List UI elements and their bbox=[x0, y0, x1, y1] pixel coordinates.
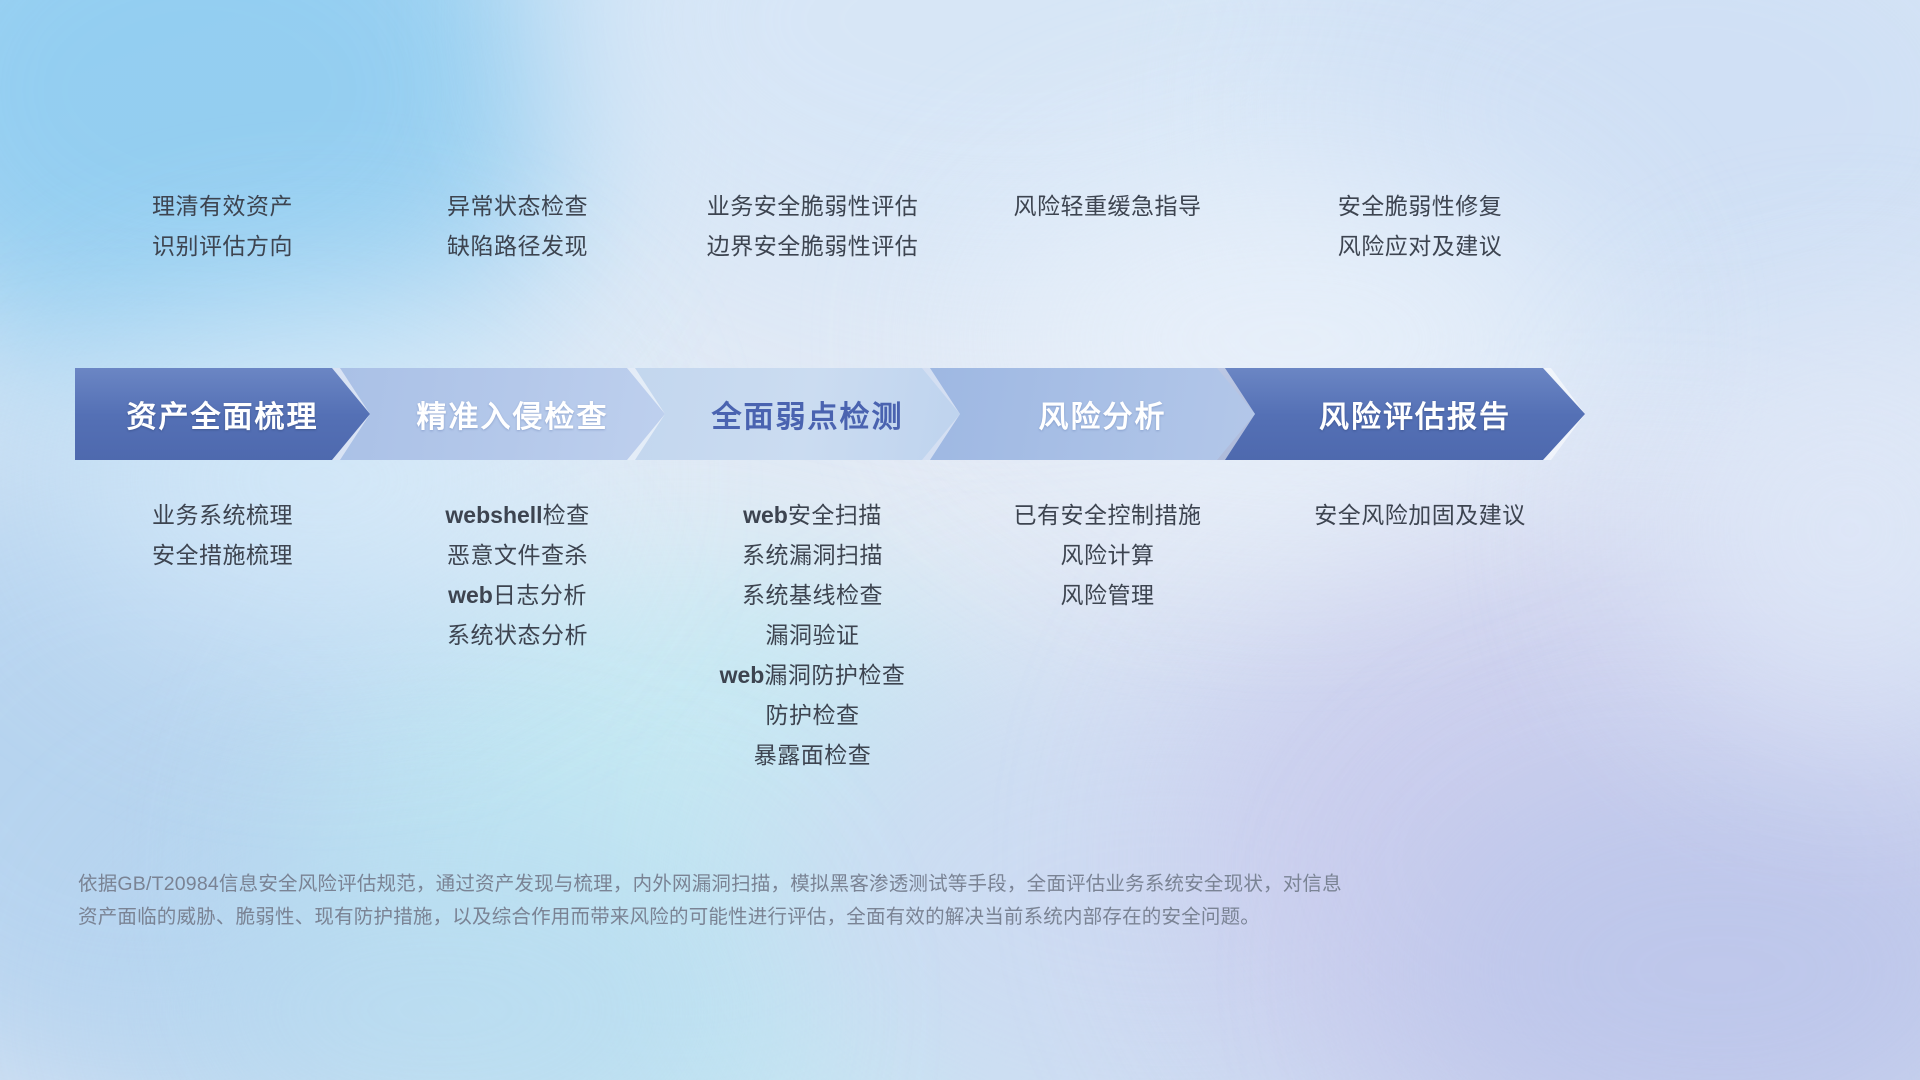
caption-line: 边界安全脆弱性评估 bbox=[665, 226, 960, 266]
list-line-rest: 安全扫描 bbox=[788, 502, 882, 528]
chevron-label: 精准入侵检查 bbox=[381, 392, 609, 436]
bottom-list-intrusion-check: webshell检查恶意文件查杀web日志分析系统状态分析 bbox=[370, 495, 665, 655]
list-line-rest: 漏洞防护检查 bbox=[764, 662, 905, 688]
list-line: 恶意文件查杀 bbox=[370, 535, 665, 575]
list-line-lead: web bbox=[448, 582, 493, 608]
bottom-list-asset-inventory: 业务系统梳理安全措施梳理 bbox=[75, 495, 370, 575]
list-line: 已有安全控制措施 bbox=[960, 495, 1255, 535]
chevron-stage-intrusion-check[interactable]: 精准入侵检查 bbox=[324, 368, 665, 460]
chevron-label: 风险评估报告 bbox=[1283, 392, 1511, 436]
list-line: web日志分析 bbox=[370, 575, 665, 615]
list-line: web漏洞防护检查 bbox=[665, 655, 960, 695]
top-caption-risk-analysis: 风险轻重缓急指导 bbox=[960, 186, 1255, 266]
list-line-lead: webshell bbox=[445, 502, 542, 528]
chevron-stage-risk-report[interactable]: 风险评估报告 bbox=[1209, 368, 1585, 460]
list-line: 风险管理 bbox=[960, 575, 1255, 615]
bottom-list-weakness-detection: web安全扫描系统漏洞扫描系统基线检查漏洞验证web漏洞防护检查防护检查暴露面检… bbox=[665, 495, 960, 775]
list-line: 系统状态分析 bbox=[370, 615, 665, 655]
caption-line: 安全脆弱性修复 bbox=[1255, 186, 1585, 226]
process-chevron-band: 资产全面梳理精准入侵检查全面弱点检测风险分析风险评估报告 bbox=[75, 368, 1845, 460]
list-line: 安全风险加固及建议 bbox=[1255, 495, 1585, 535]
bottom-lists-row: 业务系统梳理安全措施梳理 webshell检查恶意文件查杀web日志分析系统状态… bbox=[75, 495, 1845, 775]
chevron-label: 资产全面梳理 bbox=[127, 392, 319, 436]
list-line: 系统基线检查 bbox=[665, 575, 960, 615]
list-line: 系统漏洞扫描 bbox=[665, 535, 960, 575]
list-line: 暴露面检查 bbox=[665, 735, 960, 775]
caption-line: 缺陷路径发现 bbox=[370, 226, 665, 266]
bottom-list-risk-analysis: 已有安全控制措施风险计算风险管理 bbox=[960, 495, 1255, 615]
footer-description: 依据GB/T20984信息安全风险评估规范，通过资产发现与梳理，内外网漏洞扫描，… bbox=[78, 868, 1618, 934]
list-line: 防护检查 bbox=[665, 695, 960, 735]
chevron-stage-asset-inventory[interactable]: 资产全面梳理 bbox=[75, 368, 370, 460]
top-caption-intrusion-check: 异常状态检查缺陷路径发现 bbox=[370, 186, 665, 266]
list-line: 安全措施梳理 bbox=[75, 535, 370, 575]
diagram-stage: 理清有效资产识别评估方向 异常状态检查缺陷路径发现 业务安全脆弱性评估边界安全脆… bbox=[0, 0, 1920, 1080]
list-line-rest: 日志分析 bbox=[493, 582, 587, 608]
top-captions-row: 理清有效资产识别评估方向 异常状态检查缺陷路径发现 业务安全脆弱性评估边界安全脆… bbox=[75, 186, 1845, 266]
list-line: 业务系统梳理 bbox=[75, 495, 370, 535]
caption-line: 风险轻重缓急指导 bbox=[960, 186, 1255, 226]
bottom-list-risk-report: 安全风险加固及建议 bbox=[1255, 495, 1585, 535]
list-line: 漏洞验证 bbox=[665, 615, 960, 655]
list-line: web安全扫描 bbox=[665, 495, 960, 535]
list-line-rest: 检查 bbox=[543, 502, 590, 528]
list-line: 风险计算 bbox=[960, 535, 1255, 575]
caption-line: 风险应对及建议 bbox=[1255, 226, 1585, 266]
caption-line: 异常状态检查 bbox=[370, 186, 665, 226]
top-caption-risk-report: 安全脆弱性修复风险应对及建议 bbox=[1255, 186, 1585, 266]
caption-line: 理清有效资产 bbox=[75, 186, 370, 226]
chevron-label: 风险分析 bbox=[1003, 392, 1167, 436]
list-line-lead: web bbox=[720, 662, 765, 688]
list-line-lead: web bbox=[743, 502, 788, 528]
chevron-label: 全面弱点检测 bbox=[676, 392, 904, 436]
chevron-stage-weakness-detection[interactable]: 全面弱点检测 bbox=[619, 368, 960, 460]
top-caption-asset-inventory: 理清有效资产识别评估方向 bbox=[75, 186, 370, 266]
list-line: webshell检查 bbox=[370, 495, 665, 535]
chevron-stage-risk-analysis[interactable]: 风险分析 bbox=[914, 368, 1255, 460]
footer-line-1: 依据GB/T20984信息安全风险评估规范，通过资产发现与梳理，内外网漏洞扫描，… bbox=[78, 868, 1618, 901]
caption-line: 业务安全脆弱性评估 bbox=[665, 186, 960, 226]
caption-line: 识别评估方向 bbox=[75, 226, 370, 266]
footer-line-2: 资产面临的威胁、脆弱性、现有防护措施，以及综合作用而带来风险的可能性进行评估，全… bbox=[78, 901, 1618, 934]
top-caption-weakness-detection: 业务安全脆弱性评估边界安全脆弱性评估 bbox=[665, 186, 960, 266]
